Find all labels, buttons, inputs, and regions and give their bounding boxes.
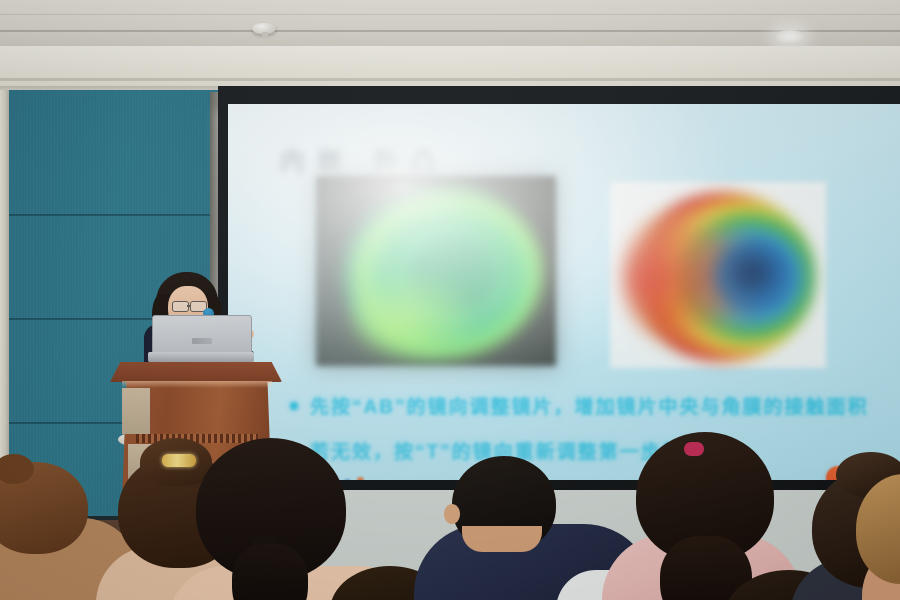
podium-bevel	[122, 381, 272, 388]
laptop-logo	[192, 338, 212, 344]
ceiling-fixture	[262, 32, 268, 39]
podium-top	[110, 362, 282, 382]
audience	[0, 418, 900, 600]
ceiling	[0, 0, 900, 46]
hair-tie-icon	[684, 442, 704, 456]
audience-member-ear	[444, 504, 460, 524]
ceiling-seam	[0, 14, 900, 15]
ceiling-soffit	[0, 46, 900, 90]
presentation-room-photo: 内嵌 外凸 先按“AB”的镜向调整镜片，增加镜片中央与角膜的接触面积 若无效，按…	[0, 0, 900, 600]
laptop	[152, 315, 252, 357]
audience-member-neck	[462, 526, 542, 552]
eyeglasses-bridge	[187, 305, 190, 307]
laptop-base	[148, 352, 254, 362]
soffit-seam	[0, 78, 900, 81]
recessed-downlight-icon	[775, 30, 805, 44]
ceiling-seam	[0, 30, 900, 32]
hair-clip-icon	[162, 454, 196, 467]
audience-member-ponytail	[232, 544, 308, 600]
eyeglasses-icon	[172, 301, 189, 312]
